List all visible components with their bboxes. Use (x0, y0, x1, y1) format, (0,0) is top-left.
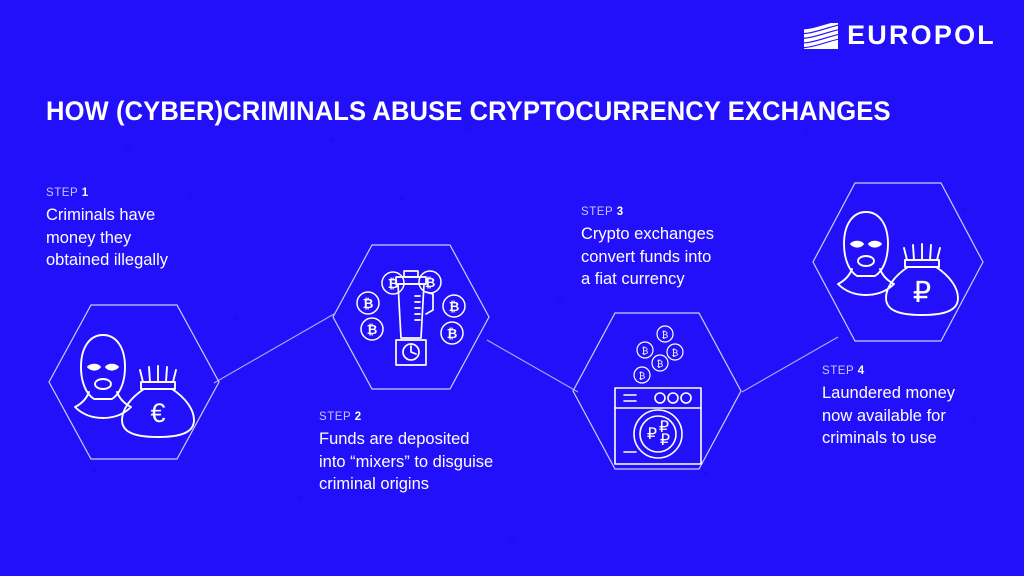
connector-1-2 (214, 314, 334, 383)
svg-text:₿: ₿ (657, 359, 664, 369)
europol-wave-mark-icon (804, 23, 838, 49)
infographic-slide: EUROPOL HOW (CYBER)CRIMINALS ABUSE CRYPT… (0, 0, 1024, 576)
step-1-text-block: STEP 1 Criminals have money they obtaine… (46, 187, 261, 272)
step-1-icon-hexagon: € (48, 304, 220, 460)
euro-money-bag-icon: € (122, 366, 194, 437)
step-4-text: Laundered money now available for crimin… (822, 382, 1024, 450)
step-1-number: 1 (82, 187, 88, 199)
svg-text:₽: ₽ (913, 277, 931, 309)
currency-tumble-symbols: ₽ ₽ ₽ (647, 419, 670, 449)
step-4-text-block: STEP 4 Laundered money now available for… (822, 365, 1024, 450)
svg-text:₿: ₿ (425, 275, 436, 290)
bitcoin-coin-group: ₿ ₿ ₿ ₿ ₿ ₿ (357, 271, 465, 344)
europol-wordmark: EUROPOL (847, 22, 996, 49)
svg-text:₿: ₿ (639, 371, 646, 381)
svg-text:₽: ₽ (647, 426, 657, 443)
falling-bitcoin-coins: ₿ ₿ ₿ ₿ ₿ (634, 326, 683, 383)
step-3-text: Crypto exchanges convert funds into a fi… (581, 223, 811, 291)
step-2-text-block: STEP 2 Funds are deposited into “mixers”… (319, 411, 569, 496)
page-title: HOW (CYBER)CRIMINALS ABUSE CRYPTOCURRENC… (46, 96, 891, 127)
hexagon-2: ₿ ₿ ₿ ₿ ₿ ₿ (332, 244, 490, 390)
connector-2-3 (487, 340, 578, 392)
ruble-money-bag-icon: ₽ (886, 244, 958, 315)
step-2-kicker-label: STEP (319, 411, 351, 423)
svg-text:₿: ₿ (388, 276, 399, 291)
step-1-text: Criminals have money they obtained illeg… (46, 204, 261, 272)
step-2-kicker: STEP 2 (319, 411, 569, 423)
step-2-number: 2 (355, 411, 361, 423)
step-2-icon-hexagon: ₿ ₿ ₿ ₿ ₿ ₿ (332, 244, 490, 390)
step-1-kicker: STEP 1 (46, 187, 261, 199)
step-3-text-block: STEP 3 Crypto exchanges convert funds in… (581, 206, 811, 291)
step-3-icon-hexagon: ₿ ₿ ₿ ₿ ₿ ₽ ₽ ₽ (572, 312, 742, 470)
step-1-kicker-label: STEP (46, 187, 78, 199)
step-4-kicker: STEP 4 (822, 365, 1024, 377)
svg-text:€: € (150, 398, 165, 428)
balaclava-icon (838, 212, 894, 295)
svg-text:₽: ₽ (660, 432, 670, 449)
svg-text:₿: ₿ (447, 326, 458, 341)
hexagon-4: ₽ (812, 182, 984, 342)
svg-text:₿: ₿ (363, 296, 374, 311)
step-2-text: Funds are deposited into “mixers” to dis… (319, 428, 569, 496)
hexagon-1: € (48, 304, 220, 460)
svg-text:₿: ₿ (642, 346, 649, 356)
svg-text:₿: ₿ (672, 348, 679, 358)
step-4-kicker-label: STEP (822, 365, 854, 377)
washing-machine-icon: ₽ ₽ ₽ (615, 388, 701, 464)
step-3-number: 3 (617, 206, 623, 218)
step-4-number: 4 (858, 365, 864, 377)
svg-text:₿: ₿ (662, 330, 669, 340)
svg-text:₿: ₿ (449, 299, 460, 314)
step-3-kicker: STEP 3 (581, 206, 811, 218)
europol-logo: EUROPOL (804, 22, 996, 49)
svg-text:₿: ₿ (367, 322, 378, 337)
step-4-icon-hexagon: ₽ (812, 182, 984, 342)
hexagon-3: ₿ ₿ ₿ ₿ ₿ ₽ ₽ ₽ (572, 312, 742, 470)
balaclava-icon (75, 335, 131, 418)
step-3-kicker-label: STEP (581, 206, 613, 218)
